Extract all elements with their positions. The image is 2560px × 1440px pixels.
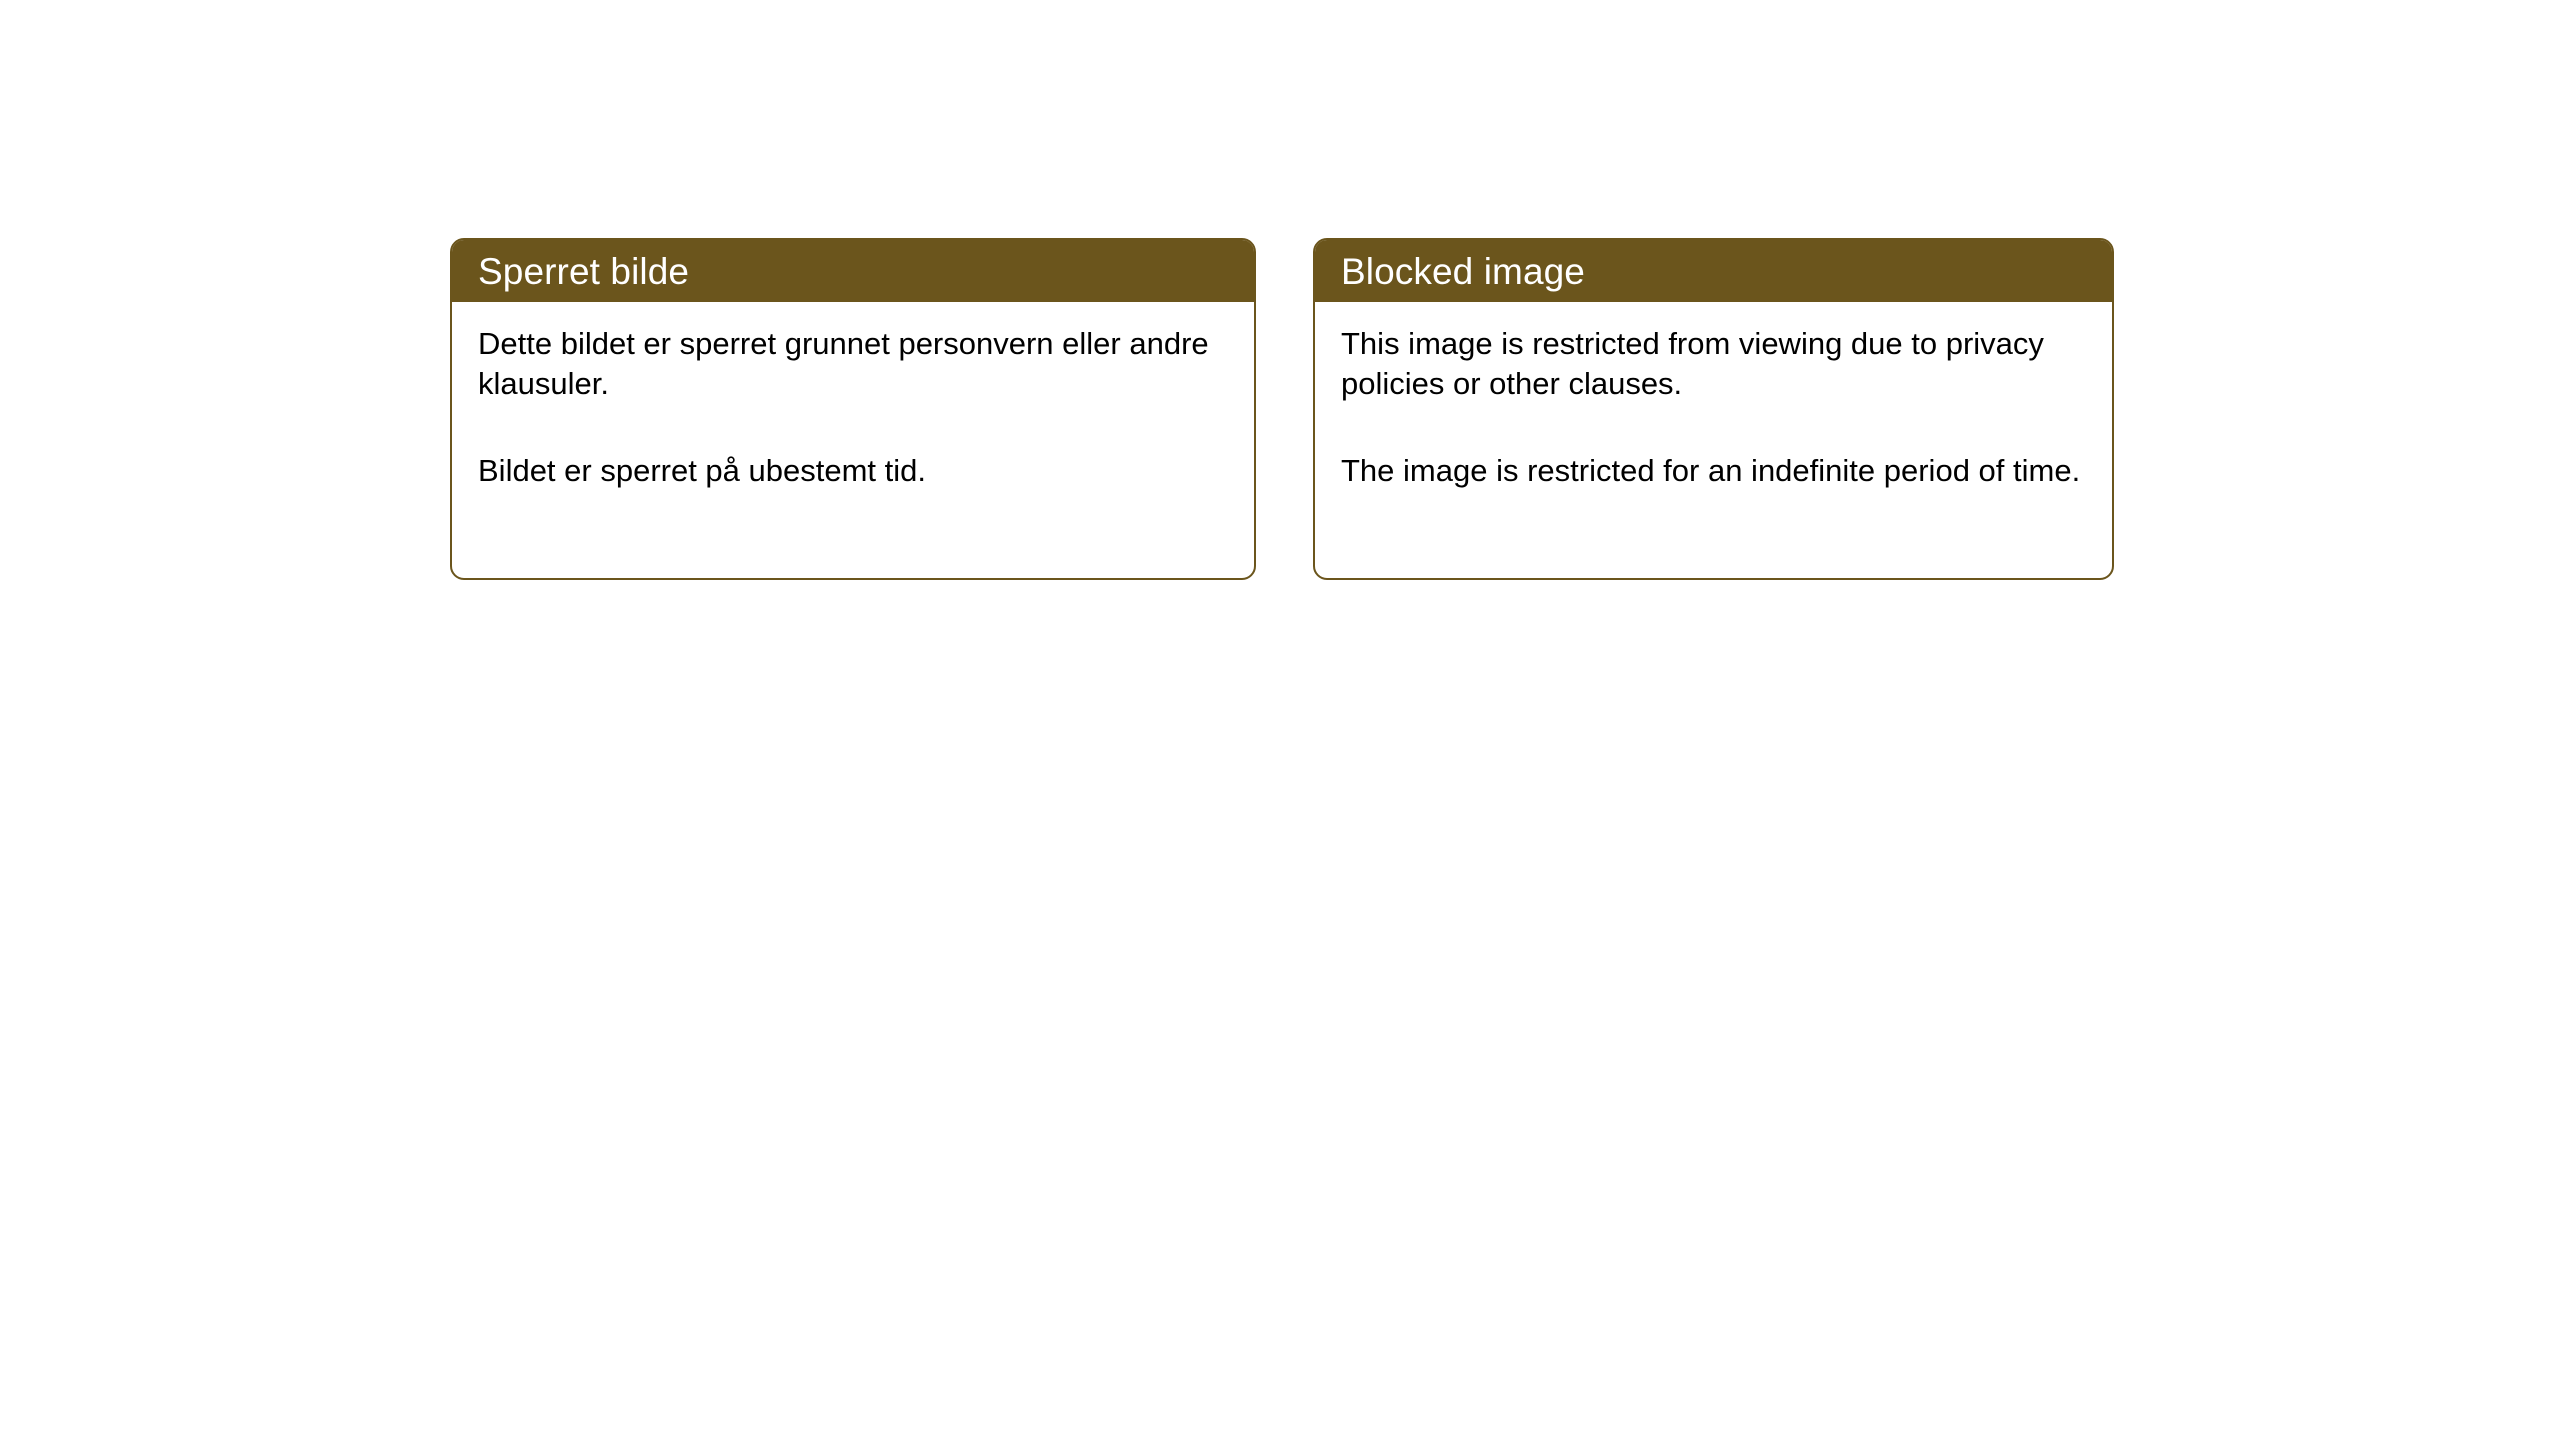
card-paragraph-secondary: The image is restricted for an indefinit… (1341, 451, 2088, 491)
card-paragraph-primary: This image is restricted from viewing du… (1341, 324, 2088, 403)
page-root: Sperret bilde Dette bildet er sperret gr… (0, 0, 2560, 1440)
card-title: Sperret bilde (478, 253, 689, 290)
blocked-image-notice-card-english: Blocked image This image is restricted f… (1313, 238, 2114, 580)
card-body: Dette bildet er sperret grunnet personve… (452, 302, 1254, 491)
card-body: This image is restricted from viewing du… (1315, 302, 2112, 491)
blocked-image-notice-card-norwegian: Sperret bilde Dette bildet er sperret gr… (450, 238, 1256, 580)
card-header-bar: Sperret bilde (452, 240, 1254, 302)
card-header-bar: Blocked image (1315, 240, 2112, 302)
card-title: Blocked image (1341, 253, 1585, 290)
card-paragraph-secondary: Bildet er sperret på ubestemt tid. (478, 451, 1230, 491)
card-paragraph-primary: Dette bildet er sperret grunnet personve… (478, 324, 1230, 403)
